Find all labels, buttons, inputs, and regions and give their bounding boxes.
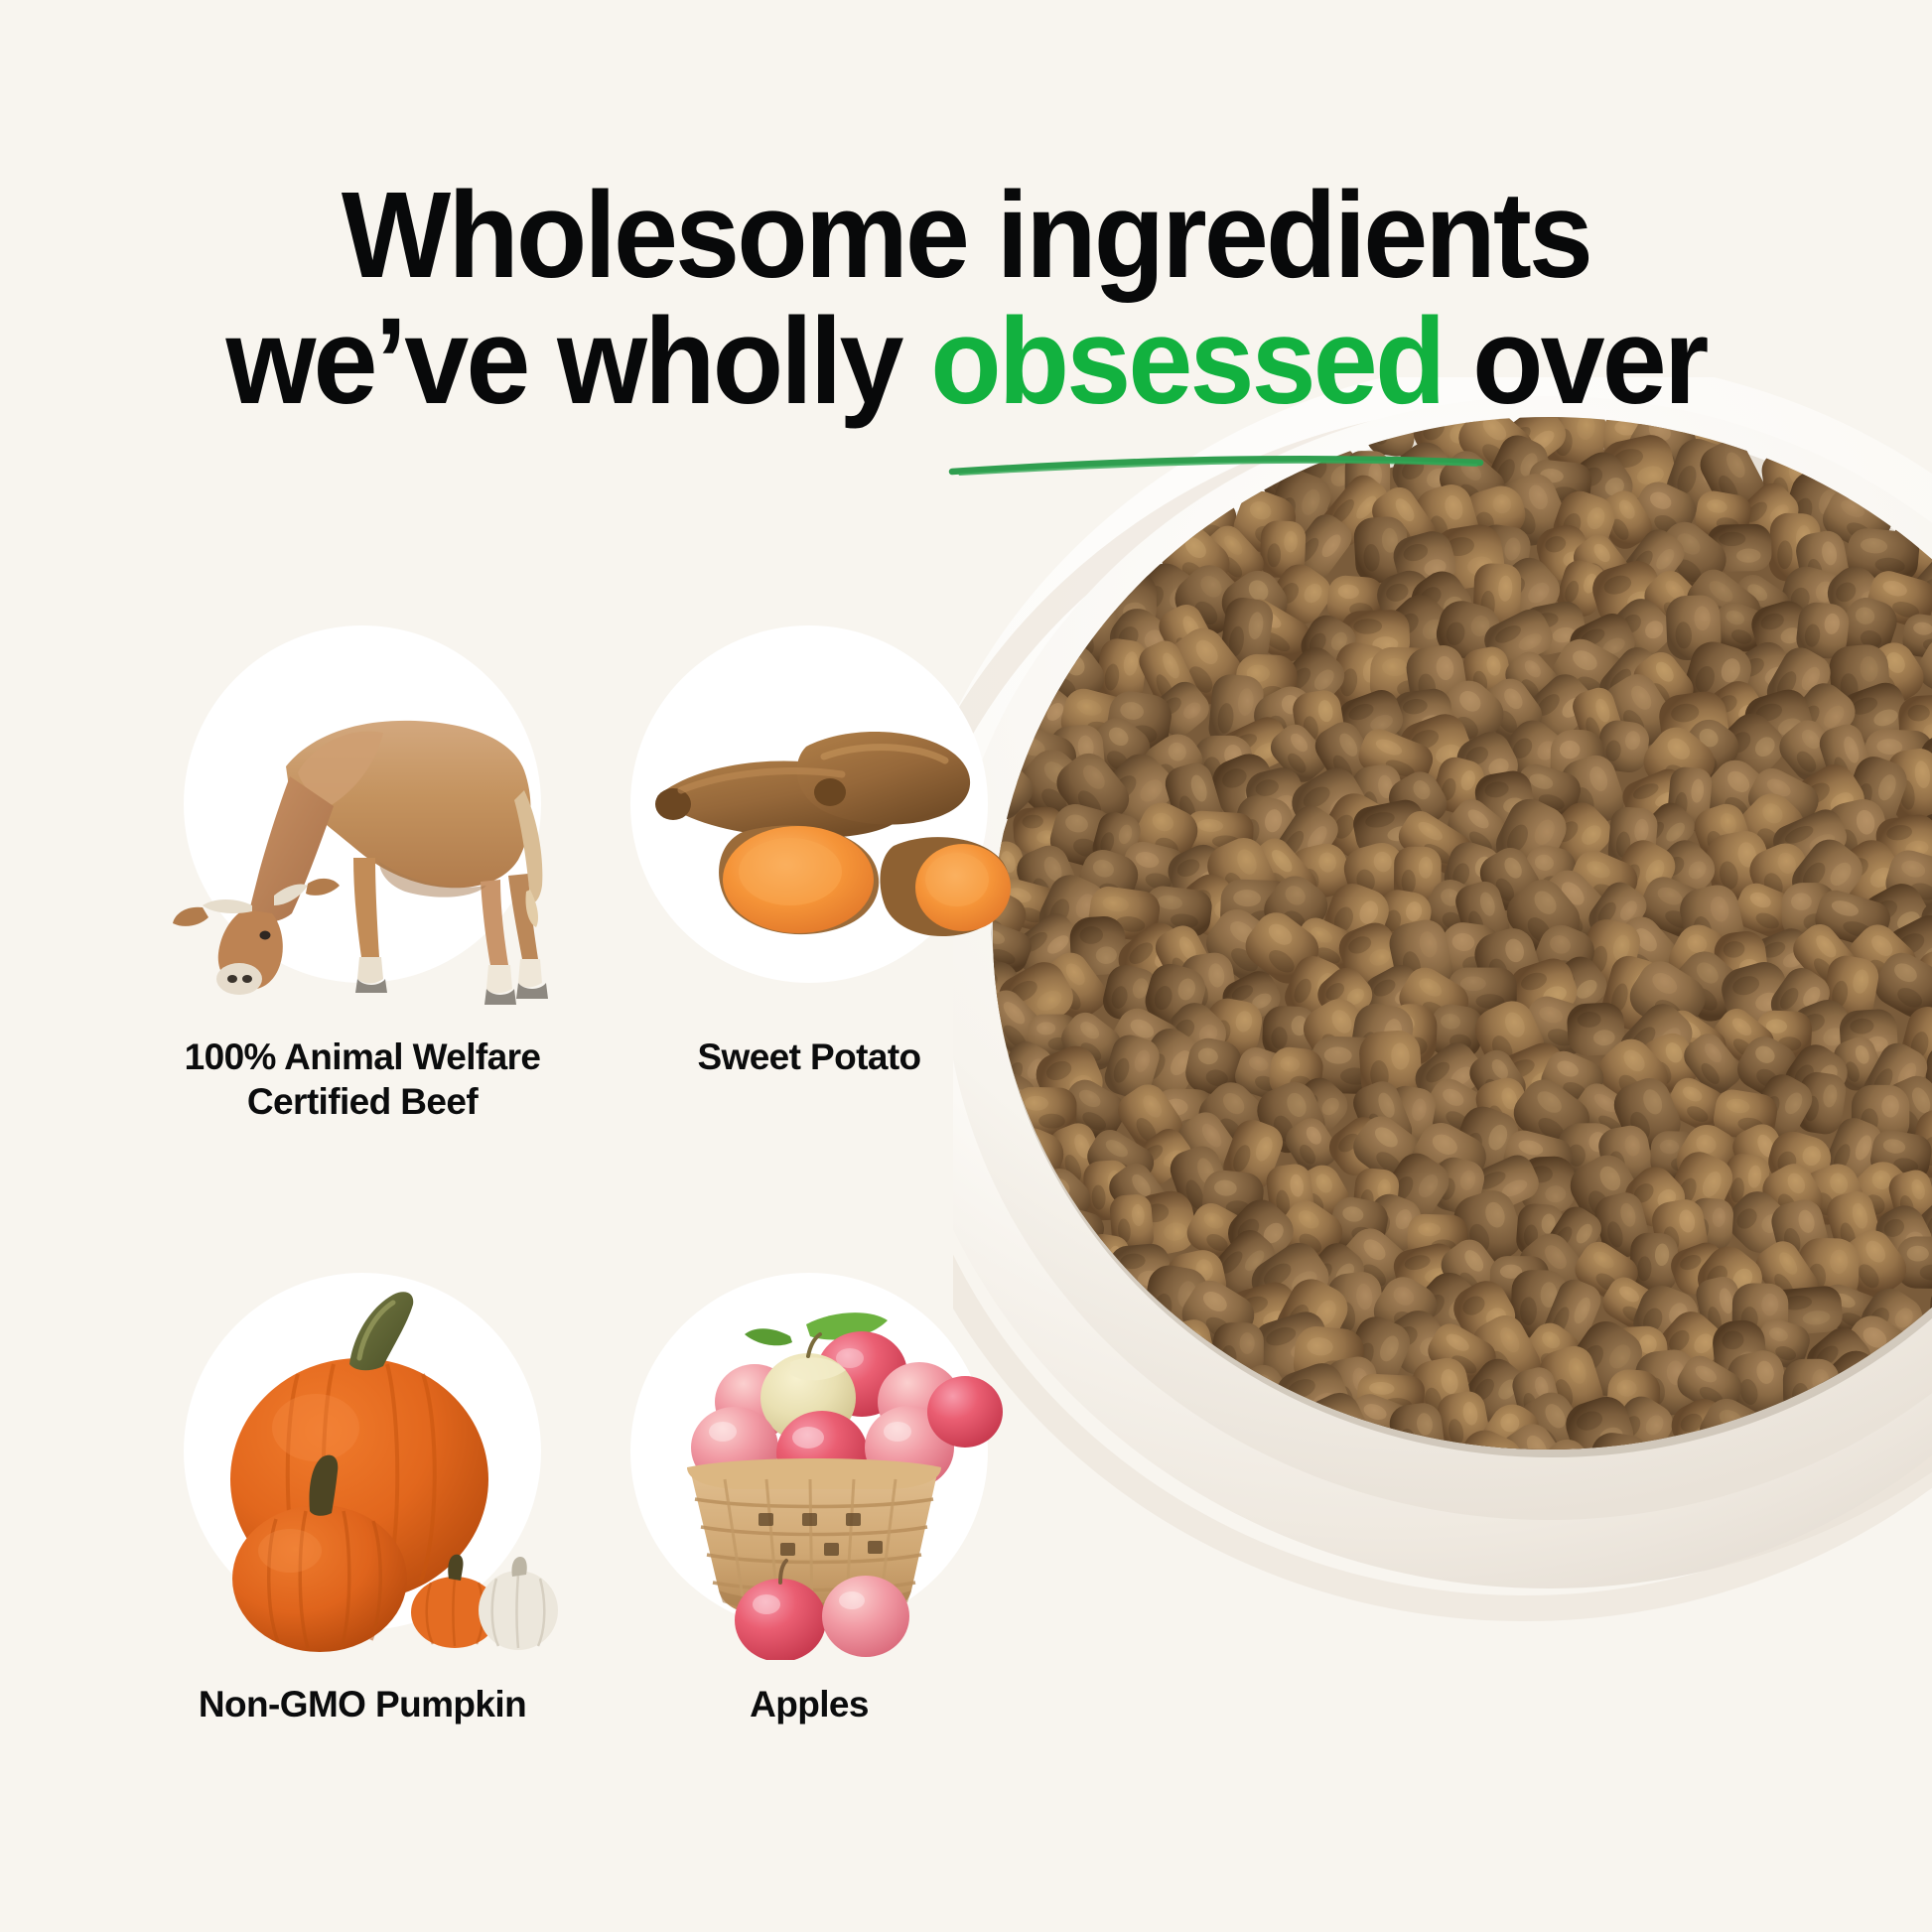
ingredient-row-1: 100% Animal Welfare Certified Beef bbox=[149, 616, 1042, 1124]
ingredient-label-line2: Certified Beef bbox=[149, 1079, 576, 1124]
ingredient-label-apples: Apples bbox=[596, 1682, 1023, 1726]
ingredient-label-beef: 100% Animal Welfare Certified Beef bbox=[149, 1035, 576, 1124]
ingredient-label-line1: Sweet Potato bbox=[596, 1035, 1023, 1079]
ingredient-label-sweet-potato: Sweet Potato bbox=[596, 1035, 1023, 1079]
hand-drawn-underline-icon bbox=[948, 452, 1484, 478]
ingredient-image-stage bbox=[149, 616, 576, 1013]
ingredient-card-apples[interactable]: Apples bbox=[596, 1263, 1042, 1726]
ingredient-card-pumpkin[interactable]: Non-GMO Pumpkin bbox=[149, 1263, 596, 1726]
headline-line-2: we’ve wholly obsessed over bbox=[49, 300, 1884, 426]
headline-line-1: Wholesome ingredients bbox=[49, 174, 1884, 300]
ingredient-image-stage bbox=[596, 616, 1023, 1013]
sweet-potato-photo-icon bbox=[596, 616, 1023, 1013]
ingredient-grid: 100% Animal Welfare Certified Beef bbox=[149, 616, 1042, 1726]
headline-highlight-obsessed: obsessed bbox=[930, 294, 1443, 430]
ingredient-image-stage bbox=[149, 1263, 576, 1660]
product-hero-canvas: Wholesome ingredients we’ve wholly obses… bbox=[0, 0, 1932, 1932]
headline-block: Wholesome ingredients we’ve wholly obses… bbox=[0, 174, 1932, 425]
cow-photo-icon bbox=[149, 616, 576, 1013]
pumpkin-photo-icon bbox=[149, 1263, 576, 1660]
bowl-outer-body bbox=[953, 377, 1932, 1588]
ingredient-row-2: Non-GMO Pumpkin bbox=[149, 1263, 1042, 1726]
bowl-rim bbox=[953, 396, 1932, 1520]
headline-line2-suffix: over bbox=[1443, 294, 1706, 430]
ingredient-image-stage bbox=[596, 1263, 1023, 1660]
headline-line2-prefix: we’ve wholly bbox=[225, 294, 930, 430]
ingredient-label-line1: Apples bbox=[596, 1682, 1023, 1726]
ingredient-card-beef[interactable]: 100% Animal Welfare Certified Beef bbox=[149, 616, 596, 1124]
kibble-pile bbox=[953, 390, 1932, 1521]
bowl-inner bbox=[994, 421, 1932, 1457]
ingredient-card-sweet-potato[interactable]: Sweet Potato bbox=[596, 616, 1042, 1124]
ingredient-label-pumpkin: Non-GMO Pumpkin bbox=[149, 1682, 576, 1726]
dog-food-bowl bbox=[953, 377, 1932, 1688]
ingredient-label-line1: Non-GMO Pumpkin bbox=[149, 1682, 576, 1726]
ingredient-label-line1: 100% Animal Welfare bbox=[149, 1035, 576, 1079]
apple-basket-photo-icon bbox=[596, 1263, 1023, 1660]
